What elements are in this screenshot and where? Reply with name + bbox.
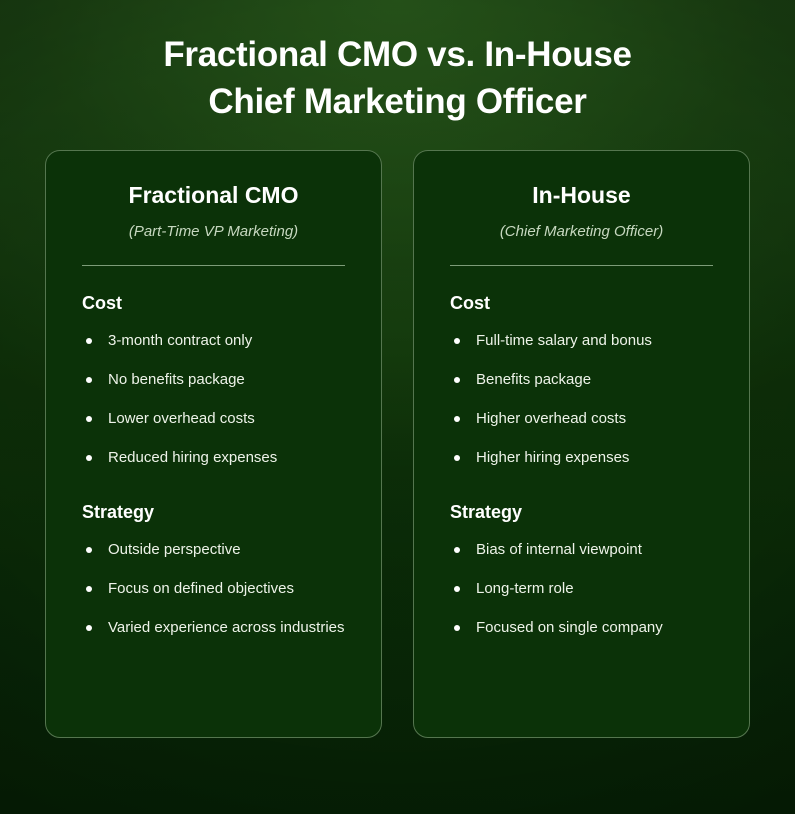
list-item: Focused on single company bbox=[450, 615, 713, 640]
card-divider bbox=[450, 265, 713, 266]
bullet-dot-icon bbox=[454, 338, 460, 344]
comparison-card-in-house: In-House (Chief Marketing Officer) Cost … bbox=[413, 150, 750, 738]
list-item-label: Bias of internal viewpoint bbox=[476, 541, 642, 558]
list-item: Full-time salary and bonus bbox=[450, 328, 713, 353]
bullet-dot-icon bbox=[86, 377, 92, 383]
list-item: Benefits package bbox=[450, 367, 713, 392]
list-item: Varied experience across industries bbox=[82, 615, 345, 640]
bullet-dot-icon bbox=[454, 377, 460, 383]
list-item: 3-month contract only bbox=[82, 328, 345, 353]
list-item-label: Full-time salary and bonus bbox=[476, 332, 652, 349]
section-heading: Strategy bbox=[82, 501, 345, 523]
bullet-dot-icon bbox=[86, 547, 92, 553]
list-item-label: Focused on single company bbox=[476, 619, 663, 636]
bullet-dot-icon bbox=[86, 455, 92, 461]
card-title: In-House bbox=[450, 181, 713, 209]
section-heading: Strategy bbox=[450, 501, 713, 523]
strategy-bullet-list: Outside perspective Focus on defined obj… bbox=[82, 537, 345, 640]
list-item: Lower overhead costs bbox=[82, 406, 345, 431]
cost-bullet-list: 3-month contract only No benefits packag… bbox=[82, 328, 345, 470]
section-heading: Cost bbox=[82, 292, 345, 314]
bullet-dot-icon bbox=[454, 547, 460, 553]
list-item-label: Focus on defined objectives bbox=[108, 580, 294, 597]
section-heading: Cost bbox=[450, 292, 713, 314]
bullet-dot-icon bbox=[454, 455, 460, 461]
list-item-label: No benefits package bbox=[108, 371, 245, 388]
bullet-dot-icon bbox=[86, 338, 92, 344]
list-item-label: Outside perspective bbox=[108, 541, 241, 558]
list-item-label: Benefits package bbox=[476, 371, 591, 388]
card-section-strategy: Strategy Bias of internal viewpoint Long… bbox=[450, 501, 713, 640]
card-section-cost: Cost Full-time salary and bonus Benefits… bbox=[450, 292, 713, 470]
card-section-strategy: Strategy Outside perspective Focus on de… bbox=[82, 501, 345, 640]
list-item: Long-term role bbox=[450, 576, 713, 601]
list-item-label: Long-term role bbox=[476, 580, 574, 597]
list-item: Higher hiring expenses bbox=[450, 445, 713, 470]
list-item-label: Reduced hiring expenses bbox=[108, 449, 277, 466]
list-item: Bias of internal viewpoint bbox=[450, 537, 713, 562]
list-item: Focus on defined objectives bbox=[82, 576, 345, 601]
bullet-dot-icon bbox=[454, 586, 460, 592]
strategy-bullet-list: Bias of internal viewpoint Long-term rol… bbox=[450, 537, 713, 640]
bullet-dot-icon bbox=[454, 416, 460, 422]
comparison-infographic: Fractional CMO vs. In-House Chief Market… bbox=[0, 0, 795, 814]
bullet-dot-icon bbox=[454, 625, 460, 631]
page-title-line-2: Chief Marketing Officer bbox=[70, 78, 725, 125]
comparison-card-row: Fractional CMO (Part-Time VP Marketing) … bbox=[0, 125, 795, 738]
card-section-cost: Cost 3-month contract only No benefits p… bbox=[82, 292, 345, 470]
list-item-label: Lower overhead costs bbox=[108, 410, 255, 427]
list-item-label: 3-month contract only bbox=[108, 332, 252, 349]
list-item: Higher overhead costs bbox=[450, 406, 713, 431]
list-item: Outside perspective bbox=[82, 537, 345, 562]
list-item: Reduced hiring expenses bbox=[82, 445, 345, 470]
card-subtitle: (Part-Time VP Marketing) bbox=[82, 222, 345, 242]
card-title: Fractional CMO bbox=[82, 181, 345, 209]
page-title: Fractional CMO vs. In-House Chief Market… bbox=[0, 0, 795, 125]
comparison-card-fractional-cmo: Fractional CMO (Part-Time VP Marketing) … bbox=[45, 150, 382, 738]
bullet-dot-icon bbox=[86, 625, 92, 631]
bullet-dot-icon bbox=[86, 416, 92, 422]
card-subtitle: (Chief Marketing Officer) bbox=[450, 222, 713, 242]
page-title-line-1: Fractional CMO vs. In-House bbox=[70, 31, 725, 78]
cost-bullet-list: Full-time salary and bonus Benefits pack… bbox=[450, 328, 713, 470]
list-item-label: Higher hiring expenses bbox=[476, 449, 629, 466]
bullet-dot-icon bbox=[86, 586, 92, 592]
list-item: No benefits package bbox=[82, 367, 345, 392]
list-item-label: Varied experience across industries bbox=[108, 619, 345, 636]
card-divider bbox=[82, 265, 345, 266]
list-item-label: Higher overhead costs bbox=[476, 410, 626, 427]
